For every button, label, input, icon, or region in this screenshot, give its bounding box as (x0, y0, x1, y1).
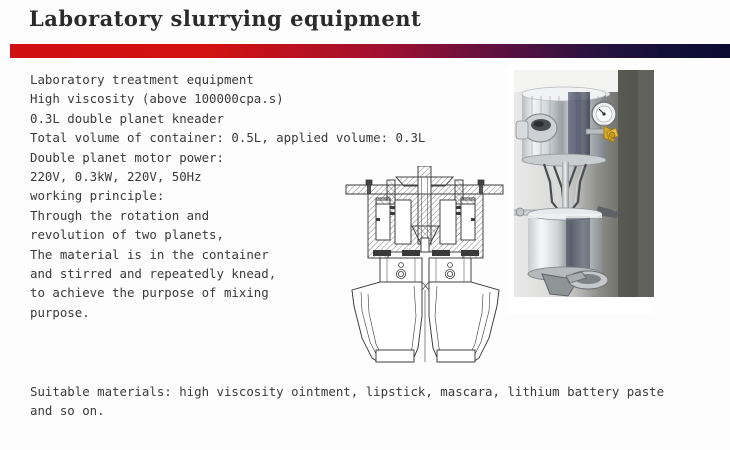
kneader-cross-section-diagram (340, 166, 515, 366)
page-title: Laboratory slurrying equipment (29, 6, 421, 31)
page-root: Laboratory slurrying equipment Laborator… (0, 0, 730, 450)
spec-line: Laboratory treatment equipment (30, 70, 450, 89)
gradient-divider-bar (10, 44, 730, 58)
note-line: Suitable materials: high viscosity ointm… (30, 382, 700, 401)
spec-line: Total volume of container: 0.5L, applied… (30, 128, 450, 147)
suitable-materials-note: Suitable materials: high viscosity ointm… (30, 382, 700, 421)
spec-line: Double planet motor power: (30, 148, 450, 167)
spec-line: 0.3L double planet kneader (30, 109, 450, 128)
note-line: and so on. (30, 401, 700, 420)
equipment-photo (508, 66, 654, 314)
spec-line: High viscosity (above 100000cpa.s) (30, 89, 450, 108)
